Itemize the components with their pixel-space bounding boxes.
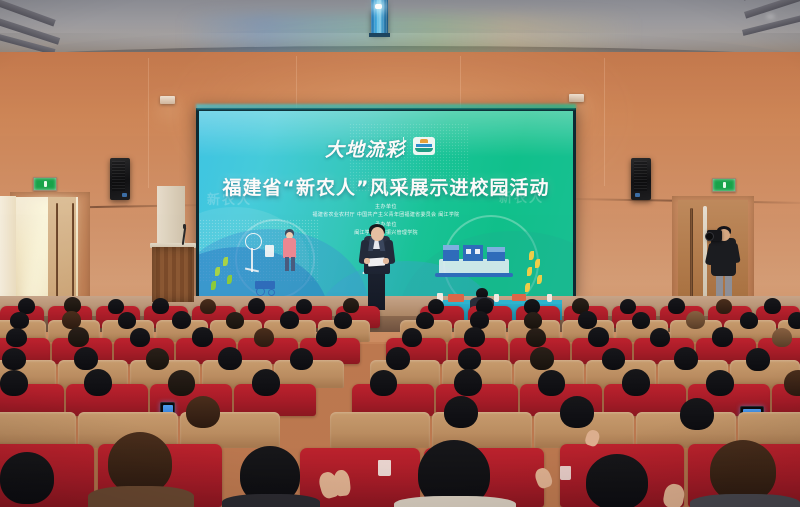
illustration-person-body	[283, 238, 296, 258]
audience-head	[334, 312, 352, 329]
wheat-stalk	[529, 251, 534, 260]
screen-main-title: 福建省“新农人”风采展示进校园活动	[199, 173, 573, 200]
wall-seam	[604, 58, 605, 186]
door-push-bar[interactable]	[72, 203, 74, 299]
host-label: 承办单位	[199, 221, 573, 228]
wheat-stalk	[537, 275, 542, 284]
audience-head	[186, 396, 220, 428]
podium-lectern[interactable]	[152, 247, 194, 302]
village-window	[466, 249, 471, 254]
table-cup	[547, 294, 552, 302]
audience-head	[588, 327, 609, 347]
phone-prop-icon	[265, 245, 274, 257]
audience-head	[280, 311, 299, 329]
village-house	[443, 249, 459, 261]
table-item-box	[512, 294, 526, 301]
audience-head	[386, 347, 410, 370]
audience-head	[68, 327, 89, 347]
audience-head	[146, 348, 169, 370]
audience-head	[650, 328, 670, 347]
speaker-grille	[112, 161, 125, 191]
audience-head	[530, 347, 554, 370]
organizer-label: 主办单位	[199, 203, 573, 210]
festival-emblem-icon	[413, 137, 435, 155]
audience-head	[458, 348, 481, 370]
audience-head	[118, 312, 136, 329]
illustration-person-leg	[285, 257, 289, 271]
audience-head	[0, 370, 28, 396]
audience-head	[200, 299, 216, 314]
audience-head	[746, 348, 770, 371]
audience-head	[622, 369, 650, 396]
projector-base	[369, 33, 390, 37]
screen-top-edge-glow	[196, 104, 576, 109]
doorway-left-edge	[0, 196, 16, 308]
ring-light-icon	[245, 233, 262, 250]
exit-sign-left	[33, 177, 57, 191]
audience-head	[108, 299, 124, 314]
audience-head	[192, 327, 213, 347]
audience-head	[632, 312, 650, 329]
audience-head-foreground	[0, 452, 54, 504]
exit-sign-icon	[713, 179, 735, 191]
audience-head	[254, 328, 274, 347]
drink-cup	[560, 466, 571, 480]
audience-head	[296, 299, 312, 314]
presenter-legs	[368, 268, 385, 310]
table-cup	[494, 294, 499, 302]
speaker-grille	[634, 161, 647, 191]
tractor-wheel	[268, 289, 275, 296]
audience-head	[402, 328, 422, 347]
projector-lamp	[375, 4, 382, 9]
audience-head	[226, 312, 244, 329]
wheat-stalk	[525, 283, 530, 292]
audience-head	[428, 299, 444, 314]
audience-head	[712, 327, 733, 347]
door-push-bar[interactable]	[690, 208, 693, 308]
audience-head	[668, 298, 685, 314]
wheat-stalk	[223, 257, 228, 266]
screen-logo-text: 大地流彩	[325, 135, 405, 162]
podium-column	[157, 186, 185, 244]
organizer-line: 福建省农业农村厅 中国共产主义青年团福建省委员会 闽江学院	[199, 211, 573, 218]
ceiling-light	[766, 14, 775, 19]
audience-head	[2, 348, 26, 370]
audience-head	[74, 347, 98, 370]
audience-head	[788, 312, 800, 329]
audience-shoulders	[690, 494, 800, 507]
village-house	[487, 251, 505, 261]
downlight-spill	[148, 103, 188, 149]
presenter-hand	[364, 258, 370, 264]
audience-head	[578, 311, 597, 329]
seat-back-panel	[330, 412, 430, 448]
microphone-head-icon	[183, 224, 186, 229]
audience-head	[538, 370, 565, 396]
audience-head	[526, 328, 546, 347]
audience-head	[252, 369, 280, 396]
audience-head-foreground	[586, 454, 648, 507]
audience-head	[84, 369, 112, 396]
audience-head	[370, 370, 397, 396]
illustration-person-leg	[291, 257, 295, 271]
audience-head	[316, 327, 337, 347]
exit-sign-icon	[34, 178, 56, 190]
audience-head	[444, 396, 478, 428]
audience-head	[218, 347, 242, 370]
audience-head	[464, 327, 485, 347]
audience-head	[716, 299, 732, 314]
audience-shoulders	[394, 496, 516, 507]
speaker-right	[631, 158, 651, 200]
audience-head	[343, 298, 359, 313]
village-window	[475, 249, 480, 254]
speaker-badge	[122, 193, 127, 197]
presenter-hand	[383, 258, 389, 264]
presenter-head	[371, 227, 384, 241]
audience-head	[290, 348, 313, 370]
audience-head	[130, 328, 150, 347]
audience-head	[248, 298, 265, 314]
audience-head-foreground	[710, 440, 776, 502]
speaker-left	[110, 158, 130, 200]
audience-head	[172, 311, 191, 329]
audience-head	[620, 299, 636, 314]
seat-back-panel	[0, 412, 76, 448]
audience-head	[10, 312, 29, 329]
speaker-badge	[635, 193, 640, 197]
audience-head	[674, 347, 698, 370]
camera-lens-icon	[705, 232, 714, 241]
door-push-bar[interactable]	[56, 203, 58, 299]
audience-head	[152, 298, 169, 314]
auditorium-scene: 新农人 新农人 大地流彩 福建省“新农人”风采展示进校园活动 主办单位 福建省农…	[0, 0, 800, 507]
audience-head	[686, 311, 705, 329]
drink-cup	[378, 460, 391, 476]
wheat-stalk	[211, 281, 216, 290]
audience-head	[416, 312, 434, 329]
audience-head	[454, 369, 482, 396]
audience-head	[168, 370, 195, 396]
audience-head	[784, 370, 800, 396]
wheat-stalk	[227, 275, 232, 284]
wheat-stalk	[527, 267, 532, 276]
audience-head	[772, 328, 792, 347]
audience-head	[764, 298, 781, 314]
village-roof	[487, 247, 505, 252]
table-item-box	[448, 294, 464, 302]
audience-head	[602, 348, 625, 370]
audience-head	[524, 312, 542, 329]
wheat-stalk	[535, 259, 540, 268]
seat	[300, 448, 420, 507]
audience-head	[560, 396, 594, 428]
audience-shoulders	[222, 494, 320, 507]
village-ground	[435, 273, 513, 277]
exit-sign-right	[712, 178, 736, 192]
audience-shoulders	[88, 486, 194, 507]
audience-head	[740, 312, 758, 329]
audience-head	[6, 328, 27, 347]
logo-divider	[403, 137, 404, 155]
audience-head-foreground	[108, 432, 172, 494]
audience-head	[706, 370, 734, 396]
tractor-wheel	[256, 287, 265, 296]
audience-head	[680, 398, 714, 430]
wheat-stalk	[215, 267, 220, 276]
village-roof	[443, 245, 459, 250]
